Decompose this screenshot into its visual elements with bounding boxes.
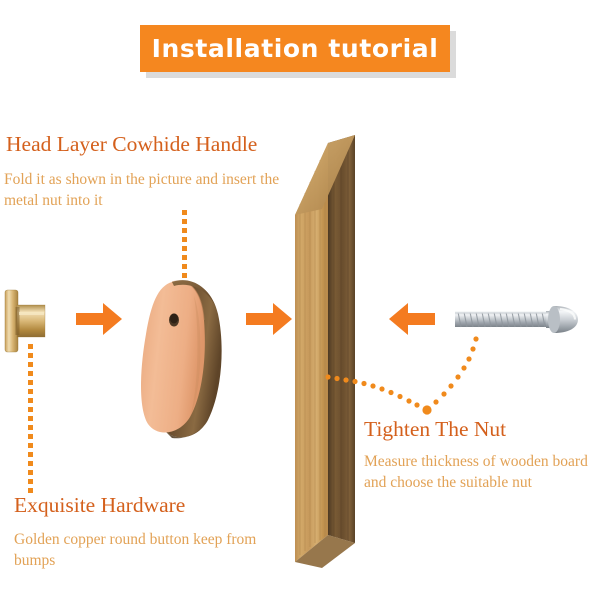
callout-body-handle: Fold it as shown in the picture and inse… bbox=[4, 170, 294, 212]
tutorial-infographic: Installation tutorial bbox=[0, 0, 600, 600]
leader-line-nut bbox=[320, 332, 485, 422]
arrow-right-to-handle bbox=[76, 300, 124, 338]
callout-body-nut: Measure thickness of wooden board and ch… bbox=[364, 452, 596, 494]
leader-line-hardware bbox=[24, 342, 40, 494]
leader-line-handle bbox=[178, 208, 194, 282]
leather-handle-graphic bbox=[132, 272, 237, 444]
arrow-right-to-board bbox=[246, 300, 294, 338]
title-banner: Installation tutorial bbox=[140, 25, 450, 72]
callout-heading-nut: Tighten The Nut bbox=[364, 418, 506, 442]
callout-body-hardware: Golden copper round button keep from bum… bbox=[14, 530, 264, 572]
callout-heading-hardware: Exquisite Hardware bbox=[14, 494, 185, 518]
callout-heading-handle: Head Layer Cowhide Handle bbox=[6, 133, 257, 157]
page-title: Installation tutorial bbox=[152, 36, 439, 61]
